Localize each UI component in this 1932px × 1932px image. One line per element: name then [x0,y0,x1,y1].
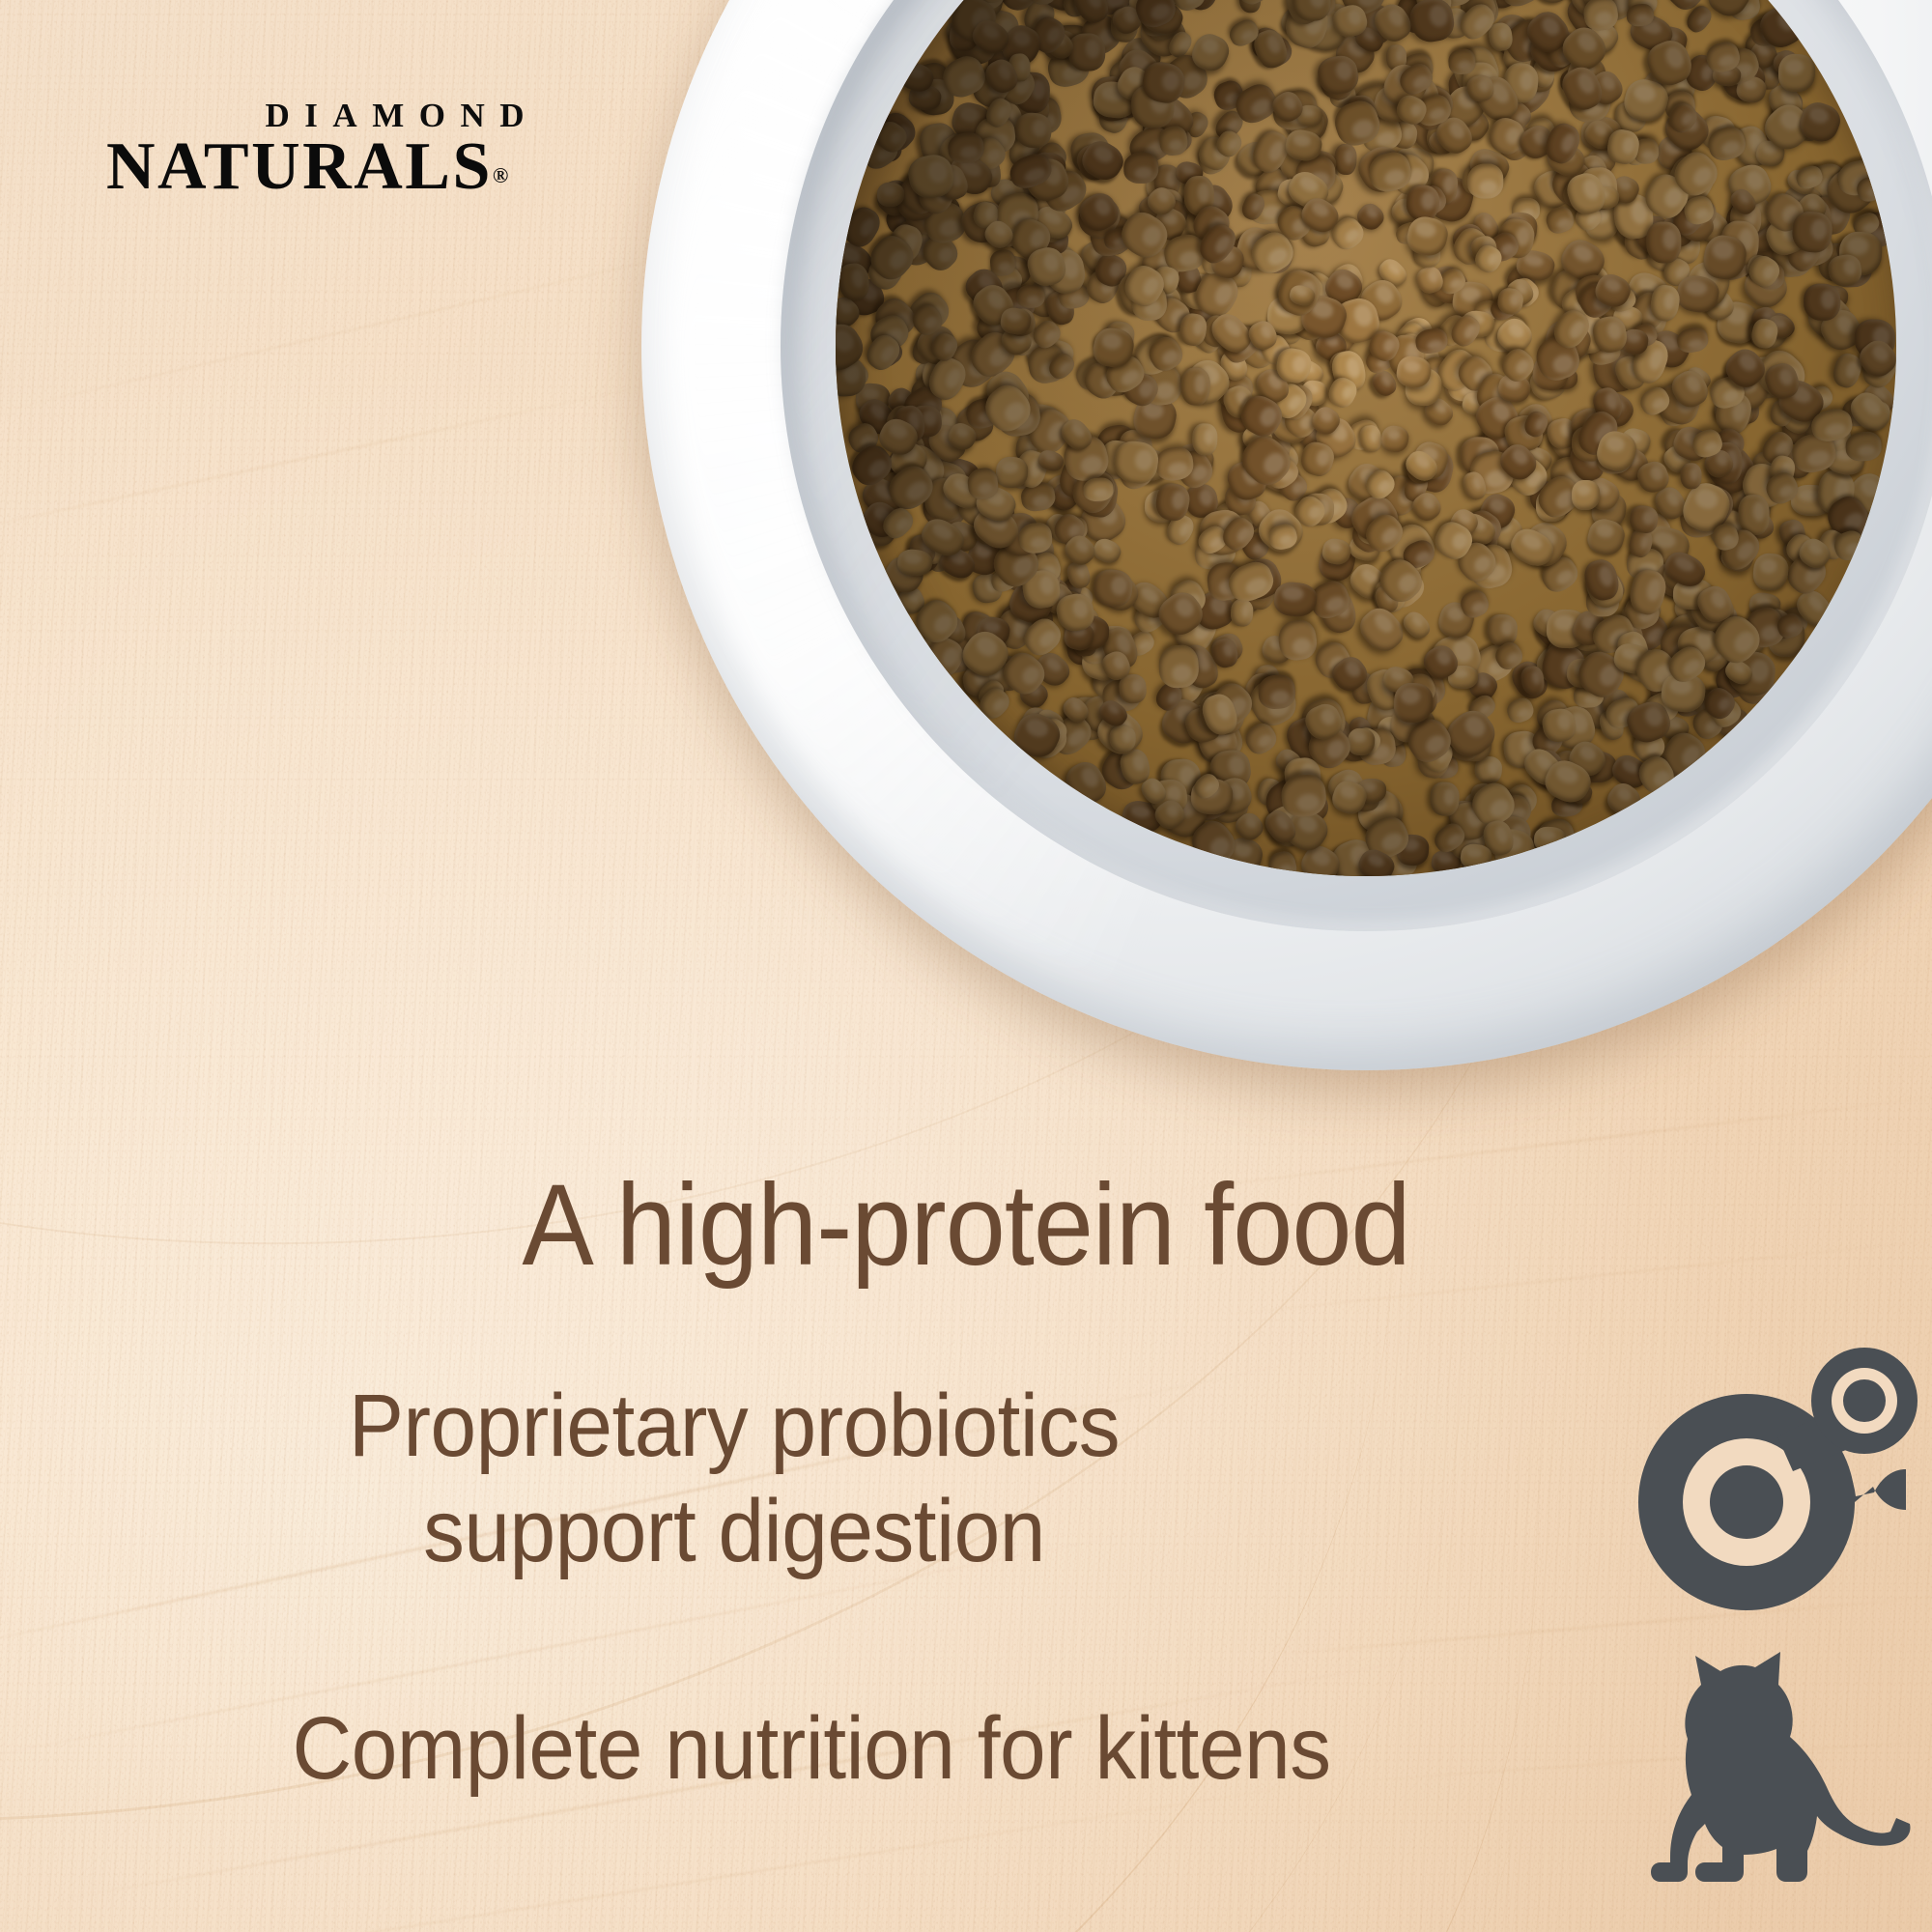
kibble-piece [1413,264,1445,297]
kibble-piece [898,186,953,241]
kibble-piece [1351,22,1386,55]
kibble-piece [1695,639,1733,676]
kibble-piece [1644,326,1694,374]
kibble-piece [1714,298,1763,347]
kibble-piece [1208,241,1246,280]
kibble-piece [1597,707,1626,742]
kibble-piece [1237,527,1273,563]
kibble-piece [1093,450,1129,480]
kibble-piece [1718,54,1772,108]
kibble-piece [1037,578,1079,619]
kibble-piece [989,652,1029,694]
kibble-piece [1074,492,1132,549]
kibble-piece [1709,388,1758,437]
kibble-piece [907,82,943,113]
kibble-piece [953,30,988,70]
kibble-piece [1713,43,1763,89]
kibble-piece [1297,192,1344,238]
kibble-piece [1830,351,1864,390]
kibble-piece [1637,168,1694,225]
kibble-piece [1772,239,1814,279]
kibble-piece [989,248,1016,276]
kibble-piece [1311,310,1362,361]
kibble-piece [1353,200,1388,235]
kibble-piece [1686,583,1741,638]
kibble-piece [1780,405,1814,438]
kibble-piece [1681,463,1702,489]
kibble-piece [1391,71,1436,119]
kibble-piece [1480,444,1523,492]
kibble-piece [1103,87,1140,122]
kibble-piece [1425,172,1476,226]
kibble-piece [1346,714,1377,749]
kibble-piece [1150,203,1190,243]
kibble-piece [1446,311,1484,351]
kibble-piece [861,330,905,376]
kibble-piece [879,504,918,543]
kibble-piece [893,166,947,219]
kibble-piece [1521,443,1555,476]
kibble-piece [1418,277,1452,311]
kibble-piece [1142,278,1186,323]
kibble-piece [1321,264,1368,311]
kibble-piece [853,393,900,440]
kibble-piece [1388,120,1418,151]
kibble-piece [1764,309,1799,343]
kibble-piece [1271,745,1305,778]
kibble-piece [980,365,1036,422]
kibble-piece [1615,101,1647,132]
kibble-piece [1036,715,1071,752]
kibble-piece [1020,533,1056,576]
kibble-piece [836,355,867,398]
kibble-piece [1664,220,1701,265]
kibble-piece [1259,772,1321,835]
kibble-piece [1190,321,1223,353]
kibble-piece [894,457,928,491]
kibble-piece [1262,453,1303,494]
kibble-piece [1181,272,1215,311]
kibble-piece [1212,128,1246,161]
kibble-piece [1727,656,1781,710]
kibble-piece [1660,425,1699,465]
kibble-piece [1202,676,1259,733]
kibble-piece [1531,606,1582,657]
kibble-piece [1130,393,1179,442]
kibble-piece [1597,569,1629,604]
kibble-piece [1625,10,1677,57]
kibble-piece [1771,202,1812,241]
kibble-piece [1582,0,1608,8]
kibble-piece [1517,516,1574,574]
kibble-piece [1623,0,1662,24]
kibble-piece [1354,845,1398,876]
kibble-piece [1419,640,1463,684]
kibble-piece [1280,289,1338,347]
kibble-piece [1026,341,1068,385]
kibble-piece [1097,0,1154,7]
kibble-piece [1633,138,1660,164]
kibble-piece [1561,0,1609,43]
kibble-piece [1677,477,1736,538]
kibble-piece [1656,134,1693,172]
kibble-piece [1447,222,1492,269]
kibble-piece [1523,0,1583,11]
kibble-piece [1541,706,1578,745]
kibble-piece [1184,207,1213,241]
kibble-piece [1617,596,1651,631]
kibble-piece [1654,380,1704,428]
kibble-piece [1565,0,1594,2]
kibble-piece [1258,673,1296,709]
kibble-piece [969,132,1010,174]
kibble-piece [1590,384,1625,424]
kibble-piece [1559,304,1616,361]
kibble-piece [1566,658,1603,691]
kibble-piece [1242,671,1302,732]
kibble-piece [1446,100,1493,146]
kibble-piece [967,278,1020,331]
kibble-piece [1628,504,1659,534]
kibble-piece [1053,590,1096,634]
kibble-piece [1281,98,1332,145]
kibble-piece [1360,508,1409,557]
kibble-piece [1724,479,1756,514]
kibble-piece [1741,27,1780,67]
kibble-piece [1721,368,1771,414]
kibble-piece [1408,489,1445,526]
kibble-piece [1030,137,1071,179]
kibble-piece [1019,480,1057,513]
kibble-piece [1593,387,1638,433]
kibble-piece [1180,108,1211,141]
kibble-piece [1639,688,1683,728]
kibble-piece [1167,601,1222,658]
kibble-piece [917,513,969,561]
registered-trademark-symbol: ® [493,163,508,187]
kibble-piece [1054,0,1102,18]
kibble-piece [1328,651,1374,696]
kibble-piece [1189,586,1238,635]
kibble-piece [1139,361,1183,407]
kibble-piece [1059,694,1093,727]
kibble-piece [1387,193,1425,231]
kibble-piece [1347,727,1376,756]
kibble-piece [1644,237,1684,275]
kibble-piece [1572,426,1606,462]
kibble-piece [1283,756,1322,797]
kibble-piece [1065,615,1109,651]
kibble-piece [1682,196,1720,237]
kibble-piece [946,0,1001,46]
kibble-piece [1451,280,1495,322]
kibble-piece [1574,152,1611,191]
kibble-piece [1198,691,1241,739]
kibble-piece [1496,780,1543,825]
kibble-piece [1727,490,1772,526]
kibble-piece [1272,581,1318,618]
kibble-piece [1595,281,1650,336]
kibble-piece [1137,0,1186,39]
kibble-piece [1086,211,1139,261]
kibble-piece [1412,91,1455,129]
kibble-piece [882,460,940,517]
kibble-piece [911,320,963,371]
kibble-piece [1091,535,1124,567]
kibble-piece [960,263,1009,311]
kibble-piece [1660,441,1695,477]
claim-probiotics-line2: support digestion [213,1479,1256,1584]
kibble-piece [1195,143,1230,178]
kibble-piece [1152,585,1209,641]
kibble-piece [957,647,1020,709]
kibble-piece [990,58,1016,86]
kibble-piece [871,133,902,162]
kibble-piece [1187,200,1236,248]
kibble-piece [1520,665,1546,696]
kibble-piece [1233,224,1282,274]
kibble-piece [1448,41,1505,99]
kibble-piece [1007,213,1056,263]
kibble-piece [1147,194,1189,233]
kibble-piece [1805,191,1855,240]
kibble-piece [1117,746,1152,786]
kibble-piece [1125,0,1162,20]
kibble-piece [854,383,890,415]
kibble-piece [1831,526,1868,563]
kibble-piece [949,19,980,52]
kibble-piece [1777,443,1818,484]
kibble-piece [1551,368,1577,389]
kibble-piece [942,518,981,555]
kibble-piece [1854,319,1895,359]
kibble-piece [1448,218,1491,261]
kibble-piece [1393,682,1434,724]
kibble-piece [1159,48,1214,104]
kibble-piece [1331,295,1382,347]
kibble-piece [1027,179,1064,215]
kibble-piece [1295,267,1341,311]
kibble-piece [1232,809,1267,844]
kibble-piece [1018,613,1066,662]
kibble-piece [1140,119,1179,154]
kibble-piece [1276,618,1319,663]
kibble-piece [1206,308,1257,359]
kibble-piece [1240,413,1279,458]
kibble-piece [1476,507,1528,555]
kibble-piece [1461,469,1490,502]
kibble-piece [1716,606,1738,634]
kibble-piece [1567,403,1615,453]
kibble-piece [880,552,928,599]
kibble-piece [1548,305,1594,354]
logo-naturals-word: NATURALS [106,129,493,204]
kibble-piece [1265,295,1311,336]
kibble-piece [1150,293,1196,338]
kibble-piece [1672,688,1708,720]
kibble-piece [1706,610,1768,671]
kibble-piece [1325,374,1361,412]
kibble-piece [1308,722,1337,757]
kibble-piece [1146,91,1200,144]
kibble-piece [997,20,1045,71]
kibble-piece [1546,156,1603,212]
kibble-piece [1357,779,1386,804]
kibble-piece [1389,704,1435,744]
kibble-piece [1131,84,1175,128]
kibble-piece [1640,523,1693,572]
kibble-piece [1275,381,1317,425]
kibble-piece [979,201,1028,242]
kibble-piece [1253,663,1283,695]
kibble-piece [1865,399,1892,430]
kibble-piece [1149,778,1189,816]
kibble-piece [1629,210,1682,263]
kibble-piece [1326,834,1382,876]
kibble-piece [919,457,972,508]
kibble-piece [1468,449,1518,497]
kibble-piece [1470,781,1497,811]
kibble-piece [1814,240,1858,286]
kibble-piece [1530,481,1557,512]
kibble-piece [1764,313,1795,341]
kibble-piece [917,121,960,169]
kibble-piece [1261,806,1301,848]
kibble-piece [1072,629,1097,657]
kibble-piece [1040,228,1069,256]
kibble-piece [923,419,971,468]
kibble-piece [1653,24,1689,58]
kibble-piece [1301,494,1333,526]
kibble-piece [1130,0,1180,33]
kibble-piece [952,399,1000,447]
kibble-piece [1583,16,1621,52]
kibble-piece [1767,397,1796,429]
kibble-piece [1363,691,1415,742]
kibble-piece [896,392,947,441]
kibble-piece [1384,552,1425,592]
kibble-piece [1181,359,1225,403]
kibble-piece [1428,167,1460,206]
kibble-piece [1144,489,1184,524]
kibble-piece [908,328,944,367]
kibble-piece [1091,703,1150,761]
kibble-piece [1543,36,1579,72]
kibble-piece [905,152,957,203]
kibble-piece [1381,565,1430,612]
kibble-piece [1060,432,1113,485]
kibble-piece [1033,706,1066,737]
kibble-piece [1078,635,1127,685]
kibble-piece [1652,656,1699,703]
kibble-piece [1179,182,1221,223]
kibble-piece [1802,159,1849,201]
kibble-piece [1218,513,1260,555]
kibble-piece [1284,269,1329,314]
kibble-piece [1719,192,1774,246]
kibble-piece [1015,401,1066,453]
kibble-piece [1755,0,1809,53]
kibble-piece [915,477,976,538]
kibble-piece [1720,343,1772,394]
kibble-piece [1209,774,1257,820]
kibble-piece [1069,0,1114,27]
kibble-piece [1540,754,1596,809]
kibble-piece [1778,54,1816,93]
kibble-piece [1118,367,1162,412]
kibble-piece [1315,540,1357,584]
kibble-piece [1138,774,1170,808]
kibble-piece [1657,743,1704,786]
kibble-piece [1767,453,1798,489]
kibble-piece [1088,662,1129,704]
kibble-piece [1457,505,1508,557]
kibble-piece [1530,639,1586,695]
kibble-piece [1165,28,1195,61]
kibble-piece [1421,109,1467,159]
kibble-piece [1016,230,1061,276]
kibble-piece [1113,62,1156,106]
kibble-piece [1193,219,1240,269]
kibble-piece [1498,14,1554,69]
kibble-piece [1748,448,1787,487]
kibble-piece [903,536,943,577]
kibble-piece [952,481,1004,532]
kibble-piece [1704,39,1743,75]
kibble-piece [1106,55,1145,92]
kibble-piece [1311,327,1350,366]
kibble-piece [1328,777,1370,817]
kibble-piece [994,390,1043,440]
kibble-piece [1040,337,1077,373]
kibble-piece [1563,302,1616,352]
kibble-piece [1240,719,1281,758]
kibble-piece [1055,454,1098,501]
kibble-piece [1559,177,1595,213]
kibble-piece [1429,781,1460,816]
kibble-piece [1208,630,1247,668]
kibble-piece [1139,60,1187,106]
kibble-piece [987,51,1015,80]
kibble-piece [1407,670,1448,709]
kibble-piece [836,338,856,369]
kibble-piece [1741,355,1789,400]
kibble-piece [1057,575,1086,607]
kibble-piece [1710,521,1741,553]
kibble-piece [1659,101,1715,157]
kibble-piece [1199,312,1233,350]
kibble-piece [1803,283,1840,321]
kibble-piece [1587,610,1639,659]
kibble-piece [1774,611,1805,641]
kibble-piece [1743,605,1789,652]
kibble-piece [1636,383,1674,419]
kibble-piece [1435,265,1469,298]
kibble-piece [1730,201,1761,238]
kibble-piece [1280,773,1327,818]
kibble-piece [1277,4,1314,41]
kibble-piece [1362,343,1398,377]
kibble-piece [1563,173,1615,225]
kibble-piece [1495,439,1542,485]
kibble-piece [883,446,920,482]
kibble-piece [1674,273,1721,316]
kibble-piece [1272,265,1325,321]
kibble-piece [1221,835,1265,876]
kibble-piece [1182,773,1237,827]
kibble-piece [1361,466,1400,504]
kibble-piece [1660,547,1710,592]
